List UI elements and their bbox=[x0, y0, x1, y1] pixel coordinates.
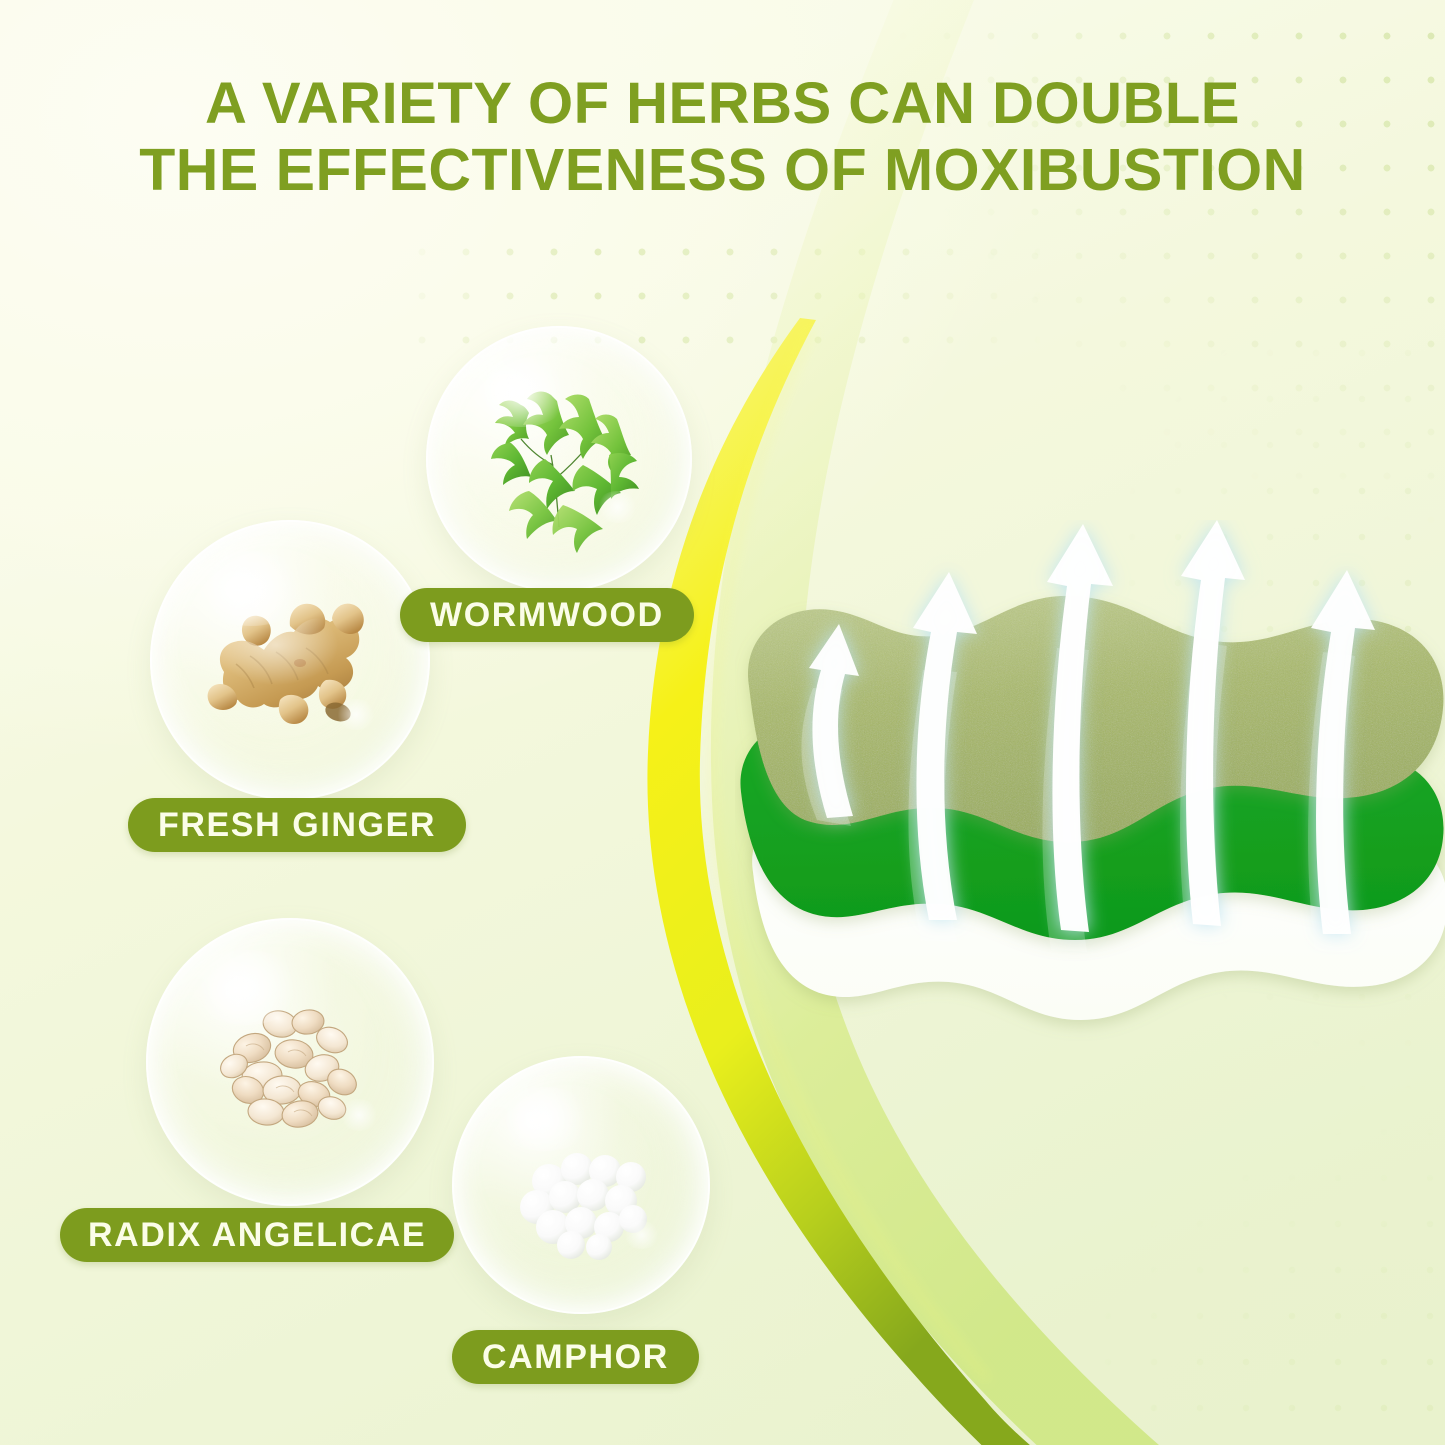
ingredient-bubble-fresh-ginger[interactable] bbox=[150, 520, 430, 800]
ingredient-bubble-camphor[interactable] bbox=[452, 1056, 710, 1314]
ingredient-label-camphor[interactable]: CAMPHOR bbox=[452, 1330, 699, 1384]
camphor-balls-icon bbox=[452, 1056, 710, 1314]
bubble-highlight bbox=[189, 950, 304, 1025]
ingredient-label-fresh-ginger[interactable]: FRESH GINGER bbox=[128, 798, 466, 852]
angelica-root-slices-icon bbox=[146, 918, 434, 1206]
ginger-root-icon bbox=[150, 520, 430, 800]
bubble-highlight bbox=[471, 358, 572, 427]
ingredient-bubble-wormwood[interactable] bbox=[426, 326, 692, 592]
bubble-highlight bbox=[195, 551, 307, 627]
page-title-line-2: THE EFFECTIVENESS OF MOXIBUSTION bbox=[0, 137, 1445, 203]
bubble-highlight bbox=[496, 1087, 594, 1152]
herb-infographic-poster: A VARIETY OF HERBS CAN DOUBLE THE EFFECT… bbox=[0, 0, 1445, 1445]
ingredient-bubble-radix-angelicae[interactable] bbox=[146, 918, 434, 1206]
moxibustion-patch-layers bbox=[735, 520, 1445, 1100]
page-title-line-1: A VARIETY OF HERBS CAN DOUBLE bbox=[0, 72, 1445, 137]
bubble-highlight bbox=[335, 699, 377, 730]
ingredient-label-wormwood[interactable]: WORMWOOD bbox=[400, 588, 694, 642]
bubble-highlight bbox=[622, 1221, 661, 1249]
bubble-highlight bbox=[596, 491, 639, 523]
ingredient-label-radix-angelicae[interactable]: RADIX ANGELICAE bbox=[60, 1208, 454, 1262]
page-title: A VARIETY OF HERBS CAN DOUBLE THE EFFECT… bbox=[0, 72, 1445, 203]
wormwood-leaf-icon bbox=[426, 326, 692, 592]
bubble-highlight bbox=[339, 1099, 379, 1131]
